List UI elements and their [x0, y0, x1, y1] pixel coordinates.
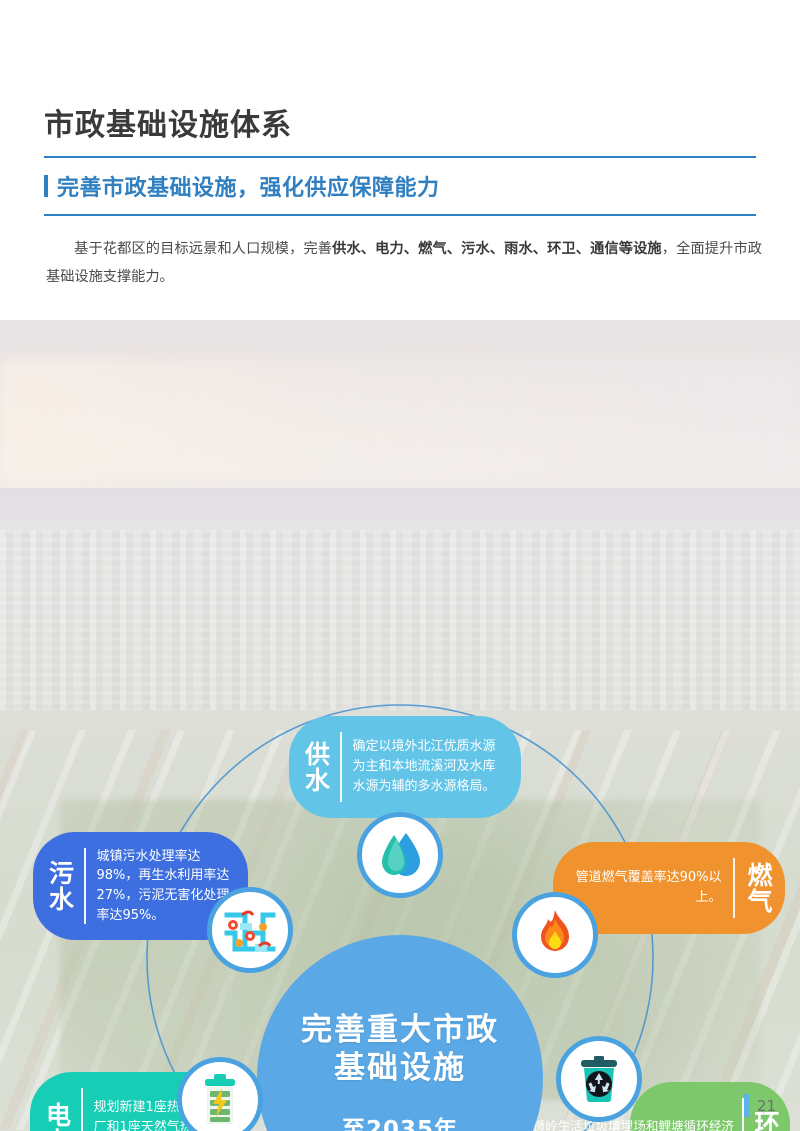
- node-divider: [81, 1088, 83, 1131]
- water-drop-icon: [376, 830, 424, 880]
- node-text-ranqi: 管道燃气覆盖率达90%以上。: [567, 868, 722, 908]
- node-text-huanwei: 建成狮岭生活垃圾填埋场和鲤塘循环经济产业园区两个垃圾处理设施。: [504, 1118, 734, 1131]
- node-text-gongshui: 确定以境外北江优质水源为主和本地流溪河及水库水源为辅的多水源格局。: [353, 737, 508, 796]
- header-rule-top: [44, 156, 756, 158]
- flame-icon: [533, 909, 577, 961]
- paragraph-part-bold: 供水、电力、燃气、污水、雨水、环卫、通信等设施: [332, 241, 662, 257]
- paragraph-part-a: 基于花都区的目标远景和人口规模，完善: [74, 241, 332, 257]
- node-label-dianli: 电力: [44, 1102, 70, 1131]
- page-title: 市政基础设施体系: [44, 100, 292, 144]
- header-rule-bottom: [44, 214, 756, 216]
- icon-bubble-ranqi[interactable]: [512, 892, 598, 978]
- battery-icon: [200, 1074, 240, 1126]
- section-subtitle: 完善市政基础设施，强化供应保障能力: [44, 170, 440, 202]
- page-header: 市政基础设施体系 完善市政基础设施，强化供应保障能力 基于花都区的目标远景和人口…: [0, 0, 800, 320]
- subtitle-text: 完善市政基础设施，强化供应保障能力: [57, 170, 440, 202]
- icon-bubble-huanwei[interactable]: [556, 1036, 642, 1122]
- node-label-ranqi: 燃气: [746, 862, 772, 914]
- icon-bubble-wushui[interactable]: [207, 887, 293, 973]
- subtitle-accent-bar: [44, 175, 48, 197]
- infographic-stage: 供水 确定以境外北江优质水源为主和本地流溪河及水库水源为辅的多水源格局。 污水 …: [0, 320, 800, 1131]
- page-number: 21: [757, 1097, 776, 1115]
- node-divider: [733, 858, 735, 918]
- icon-bubble-gongshui[interactable]: [357, 812, 443, 898]
- intro-paragraph: 基于花都区的目标远景和人口规模，完善供水、电力、燃气、污水、雨水、环卫、通信等设…: [46, 236, 762, 291]
- node-divider: [340, 732, 342, 802]
- center-title-line2: 基础设施: [301, 1050, 499, 1088]
- page-number-block: 21: [744, 1094, 776, 1117]
- paragraph-part-tail: ，: [662, 241, 676, 257]
- center-title: 完善重大市政 基础设施: [301, 1012, 499, 1088]
- node-card-gongshui[interactable]: 供水 确定以境外北江优质水源为主和本地流溪河及水库水源为辅的多水源格局。: [289, 716, 521, 818]
- pipe-network-icon: [223, 903, 277, 957]
- node-label-gongshui: 供水: [303, 741, 329, 793]
- center-title-line1: 完善重大市政: [301, 1012, 499, 1050]
- recycle-bin-icon: [575, 1054, 623, 1104]
- node-label-wushui: 污水: [47, 860, 73, 912]
- node-divider: [84, 848, 86, 924]
- center-subtitle: 至2035年: [342, 1110, 458, 1131]
- page-number-accent-bar: [744, 1094, 749, 1117]
- page-root: 市政基础设施体系 完善市政基础设施，强化供应保障能力 基于花都区的目标远景和人口…: [0, 0, 800, 1131]
